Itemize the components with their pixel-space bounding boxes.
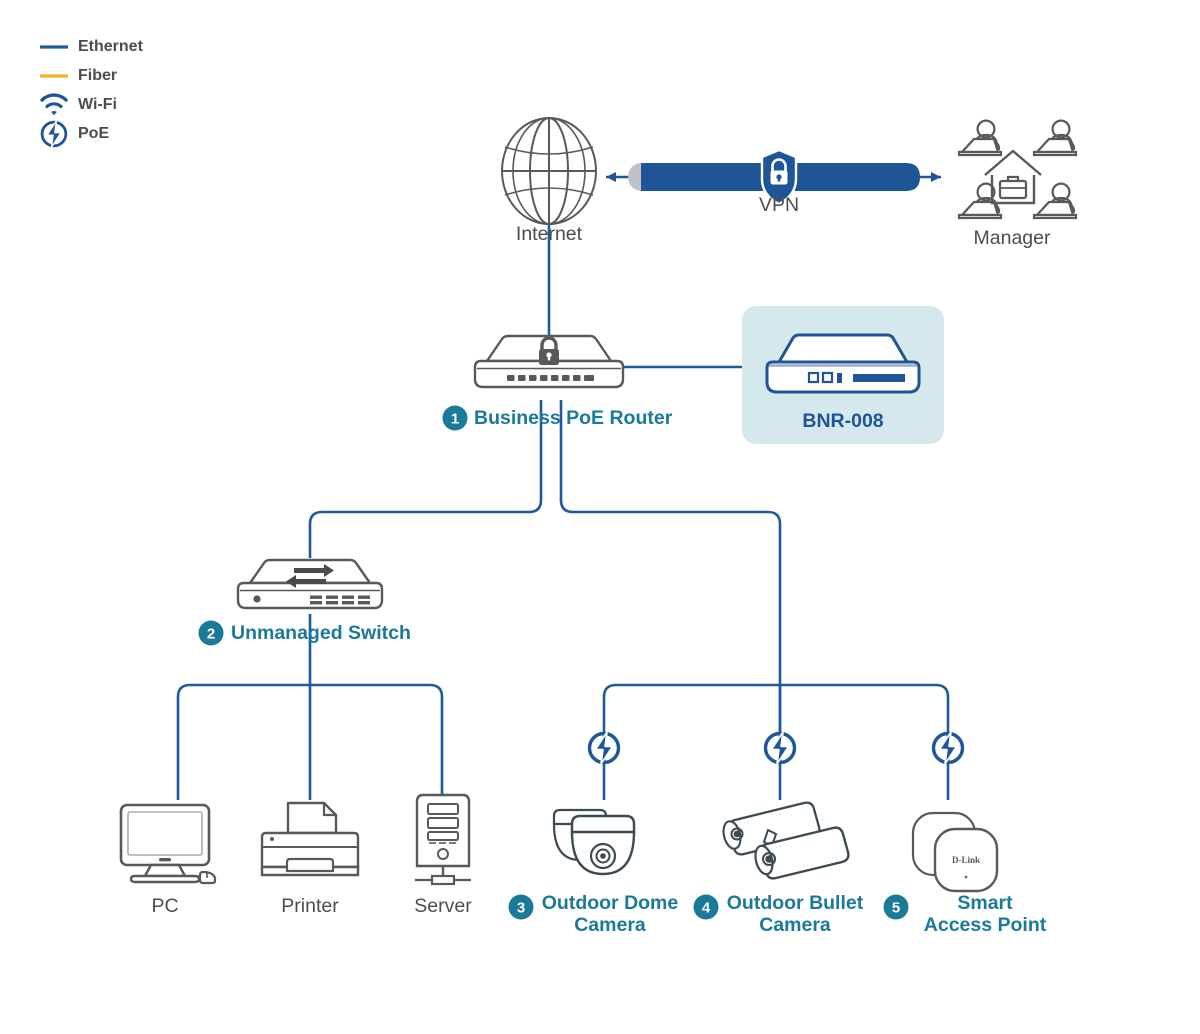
bullet-camera-icon[interactable] xyxy=(721,803,849,879)
router-product-icon xyxy=(767,335,919,392)
dome-camera-icon[interactable] xyxy=(554,810,634,874)
badge-access-point: 5 xyxy=(884,895,909,920)
poe-bolt-icon-legend xyxy=(42,121,66,147)
legend-label-poe: PoE xyxy=(78,125,238,143)
bullet-camera-label[interactable]: Outdoor Bullet Camera xyxy=(722,893,868,937)
badge-dome-camera: 3 xyxy=(509,895,534,920)
svg-text:2: 2 xyxy=(207,626,215,643)
badge-bullet-camera: 4 xyxy=(694,895,719,920)
globe-icon xyxy=(502,118,596,224)
svg-text:5: 5 xyxy=(892,900,900,917)
legend-swatches xyxy=(40,47,68,147)
switch-label[interactable]: Unmanaged Switch xyxy=(231,623,531,645)
dome-camera-label[interactable]: Outdoor Dome Camera xyxy=(537,893,683,937)
legend-label-fiber: Fiber xyxy=(78,67,238,85)
remote-workers-icon xyxy=(959,121,1076,218)
poe-bolt-icon-ap xyxy=(934,732,963,764)
legend-label-wifi: Wi-Fi xyxy=(78,96,238,114)
access-point-label[interactable]: Smart Access Point xyxy=(912,893,1058,937)
legend-label-ethernet: Ethernet xyxy=(78,38,238,56)
badge-switch: 2 xyxy=(199,621,224,646)
network-topology-diagram: D-Link D-Link xyxy=(0,0,1200,1034)
wifi-icon xyxy=(42,95,66,115)
access-point-icon[interactable] xyxy=(913,813,997,891)
internet-label: Internet xyxy=(449,224,649,246)
badge-router: 1 xyxy=(443,406,468,431)
product-model-label: BNR-008 xyxy=(742,411,944,433)
server-tower-icon[interactable] xyxy=(415,795,471,884)
poe-bolt-icon-dome xyxy=(590,732,619,764)
svg-text:4: 4 xyxy=(702,900,711,917)
router-icon[interactable] xyxy=(475,336,623,387)
printer-icon[interactable] xyxy=(262,803,358,875)
manager-label: Manager xyxy=(932,228,1092,250)
router-label[interactable]: Business PoE Router xyxy=(474,408,774,430)
printer-label: Printer xyxy=(250,896,370,918)
switch-icon[interactable] xyxy=(238,560,382,608)
desktop-computer-icon[interactable] xyxy=(121,805,215,883)
poe-bolt-icon-bullet xyxy=(766,732,795,764)
svg-text:1: 1 xyxy=(451,411,459,428)
vpn-label: VPN xyxy=(699,195,859,217)
svg-text:3: 3 xyxy=(517,900,525,917)
server-label: Server xyxy=(383,896,503,918)
pc-label: PC xyxy=(105,896,225,918)
